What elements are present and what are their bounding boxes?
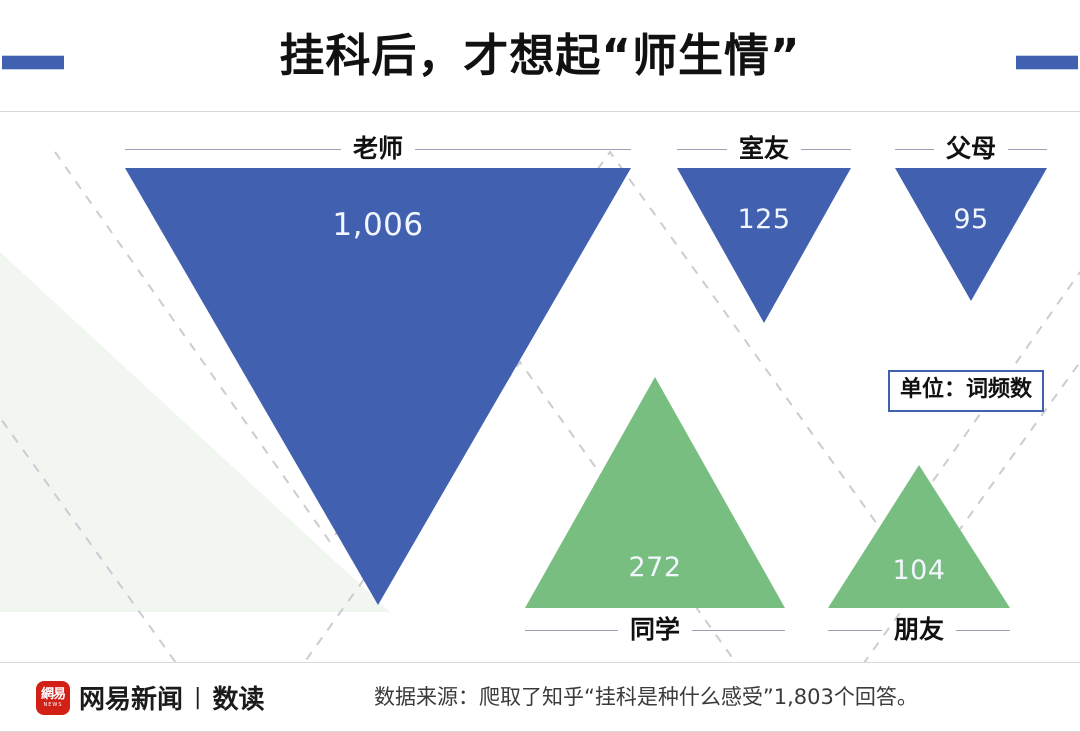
brand-name-sub: 数读 bbox=[212, 679, 264, 716]
unit-legend-badge: 单位：词频数 bbox=[888, 370, 1044, 412]
chart-area: 老师 1,006 室友 125 父母 bbox=[0, 112, 1080, 662]
triangle-pengyou bbox=[828, 465, 1010, 608]
category-label-fumu: 父母 bbox=[895, 134, 1047, 164]
label-rule-left bbox=[525, 630, 618, 631]
label-rule-left bbox=[125, 149, 341, 150]
category-label-shiyou: 室友 bbox=[677, 134, 851, 164]
category-name: 朋友 bbox=[894, 615, 944, 645]
category-label-laoshi: 老师 bbox=[125, 134, 631, 164]
value-label-laoshi: 1,006 bbox=[125, 207, 631, 243]
label-rule-right bbox=[801, 149, 851, 150]
data-source-note: 数据来源：爬取了知乎“挂科是种什么感受”1,803个回答。 bbox=[374, 684, 918, 710]
label-rule-left bbox=[895, 149, 934, 150]
label-rule-right bbox=[956, 630, 1010, 631]
category-label-tongxue: 同学 bbox=[525, 615, 785, 645]
category-name: 室友 bbox=[739, 134, 789, 164]
brand-name-main: 网易新闻 bbox=[79, 679, 183, 716]
value-label-pengyou: 104 bbox=[828, 555, 1010, 586]
value-label-tongxue: 272 bbox=[525, 552, 785, 583]
header: 挂科后，才想起“师生情” bbox=[0, 0, 1080, 112]
category-name: 同学 bbox=[630, 615, 680, 645]
category-label-pengyou: 朋友 bbox=[828, 615, 1010, 645]
netease-logo-cn: 網易 bbox=[41, 688, 65, 701]
footer-divider-top bbox=[0, 662, 1080, 663]
netease-logo-icon: 網易 NEWS bbox=[36, 681, 70, 715]
footer: 網易 NEWS 网易新闻 | 数读 数据来源：爬取了知乎“挂科是种什么感受”1,… bbox=[0, 662, 1080, 732]
label-rule-right bbox=[1008, 149, 1047, 150]
category-name: 父母 bbox=[946, 134, 996, 164]
triangle-shiyou bbox=[677, 168, 851, 323]
value-label-shiyou: 125 bbox=[677, 204, 851, 235]
label-rule-right bbox=[692, 630, 785, 631]
brand-lockup: 網易 NEWS 网易新闻 | 数读 bbox=[36, 679, 264, 716]
page-title: 挂科后，才想起“师生情” bbox=[0, 26, 1080, 86]
category-name: 老师 bbox=[353, 134, 403, 164]
label-rule-right bbox=[415, 149, 631, 150]
netease-logo-en: NEWS bbox=[43, 703, 62, 708]
infographic-page: 挂科后，才想起“师生情” 老师 1,006 室友 bbox=[0, 0, 1080, 732]
label-rule-left bbox=[828, 630, 882, 631]
label-rule-left bbox=[677, 149, 727, 150]
brand-separator: | bbox=[192, 685, 203, 710]
value-label-fumu: 95 bbox=[895, 204, 1047, 235]
